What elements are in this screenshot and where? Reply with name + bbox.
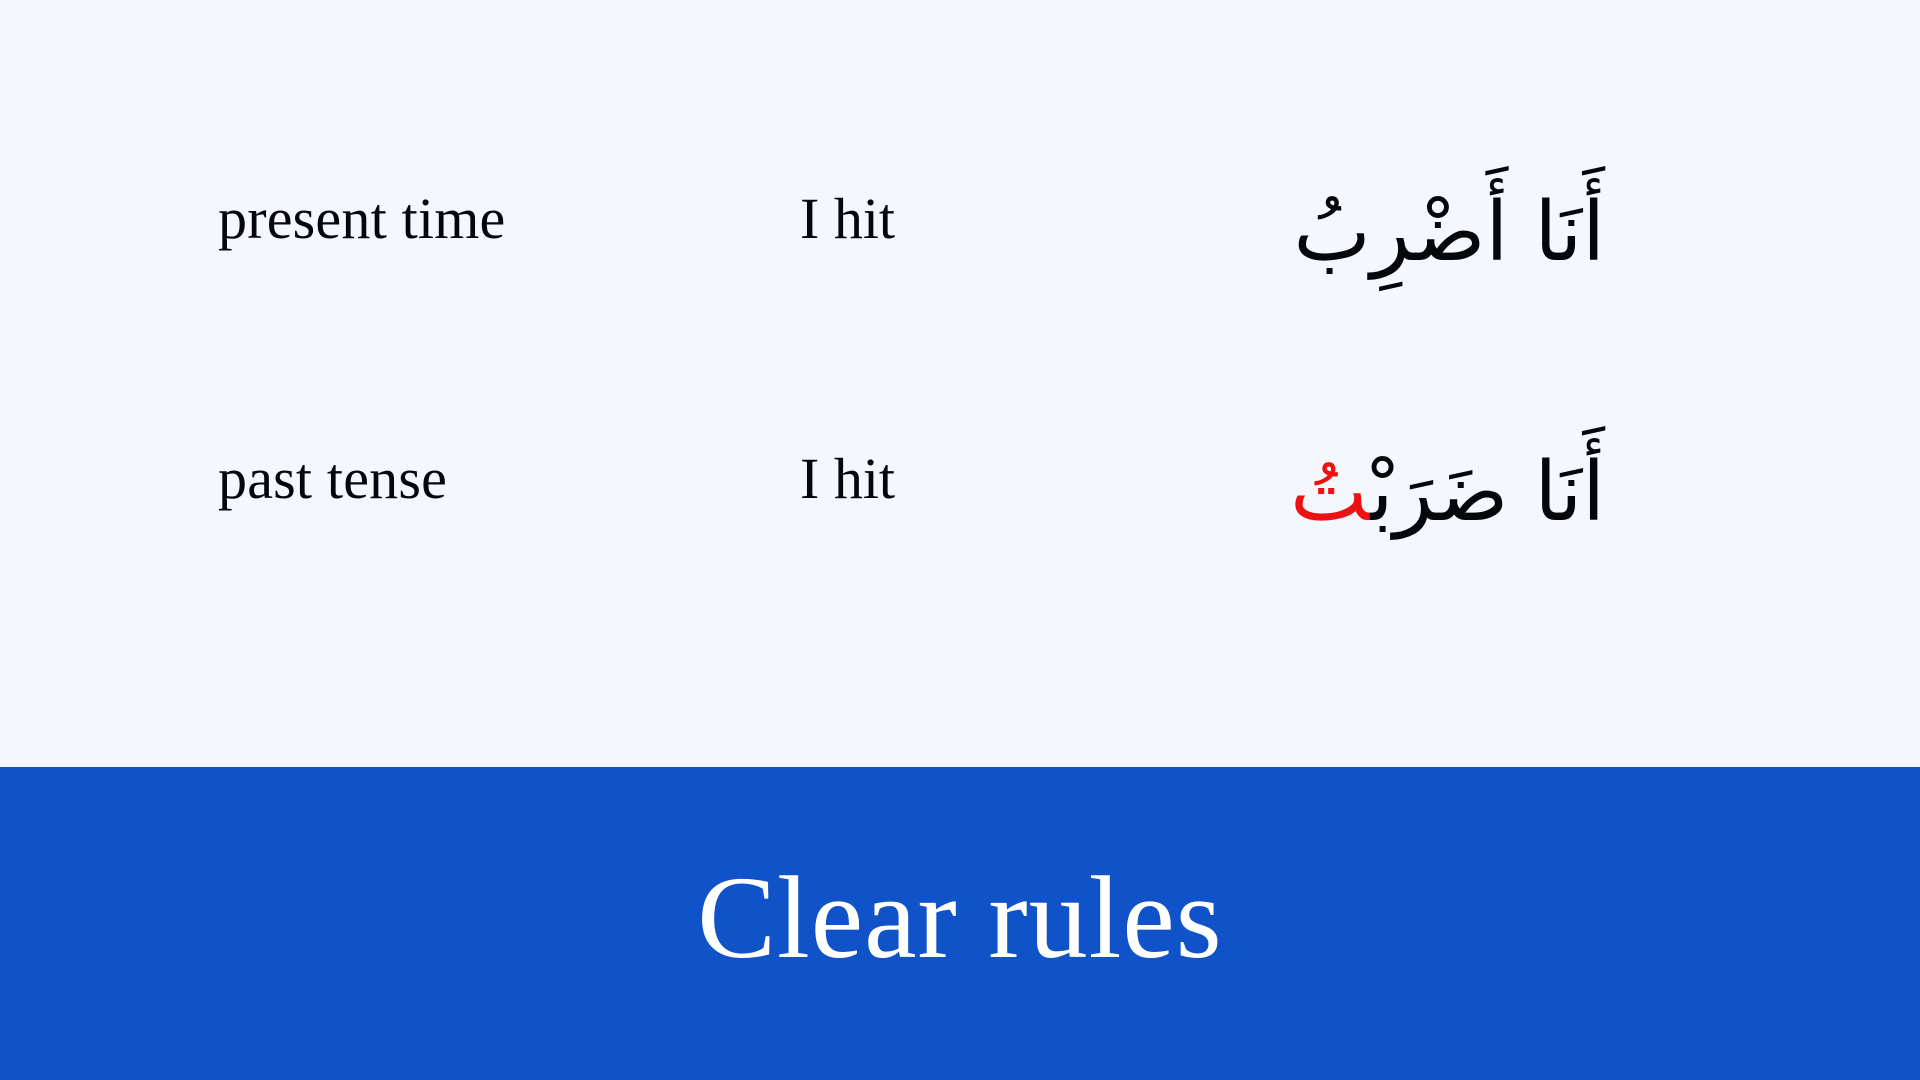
table-row: present time I hit أَنَا أَضْرِبُ — [0, 190, 1920, 310]
arabic-phrase-present: أَنَا أَضْرِبُ — [1293, 190, 1605, 276]
examples-content-area: present time I hit أَنَا أَضْرِبُ past t… — [0, 0, 1920, 767]
table-row: past tense I hit أَنَا ضَرَبْتُ — [0, 450, 1920, 570]
arabic-phrase-past-base: أَنَا ضَرَبْ — [1371, 445, 1605, 540]
english-gloss-present: I hit — [800, 190, 895, 248]
banner-title: Clear rules — [697, 859, 1222, 977]
arabic-phrase-past: أَنَا ضَرَبْتُ — [1290, 450, 1605, 536]
arabic-phrase-present-base: أَنَا أَضْرِبُ — [1293, 185, 1605, 280]
slide-root: present time I hit أَنَا أَضْرِبُ past t… — [0, 0, 1920, 1080]
footer-banner: Clear rules — [0, 767, 1920, 1080]
tense-label-present: present time — [218, 190, 505, 248]
tense-label-past: past tense — [218, 450, 447, 508]
arabic-phrase-past-suffix: تُ — [1290, 445, 1371, 540]
english-gloss-past: I hit — [800, 450, 895, 508]
